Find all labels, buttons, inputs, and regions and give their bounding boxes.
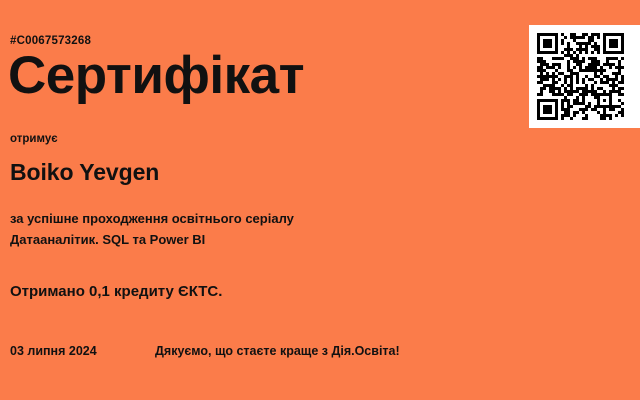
course-description: за успішне проходження освітнього серіал… [10, 209, 294, 251]
credits-earned: Отримано 0,1 кредиту ЄКТС. [10, 283, 222, 300]
course-description-line-1: за успішне проходження освітнього серіал… [10, 209, 294, 230]
thanks-message: Дякуємо, що стаєте краще з Дія.Освіта! [155, 344, 400, 358]
receives-label: отримує [10, 133, 58, 145]
qr-code-panel [529, 25, 640, 128]
course-description-line-2: Датааналітик. SQL та Power BI [10, 230, 294, 251]
recipient-name: Boiko Yevgen [10, 159, 159, 186]
page-title: Сертифікат [8, 48, 304, 104]
qr-code-icon[interactable] [537, 33, 624, 120]
issue-date: 03 липня 2024 [10, 344, 97, 358]
certificate-card: #C0067573268 Сертифікат отримує Boiko Ye… [0, 0, 640, 400]
